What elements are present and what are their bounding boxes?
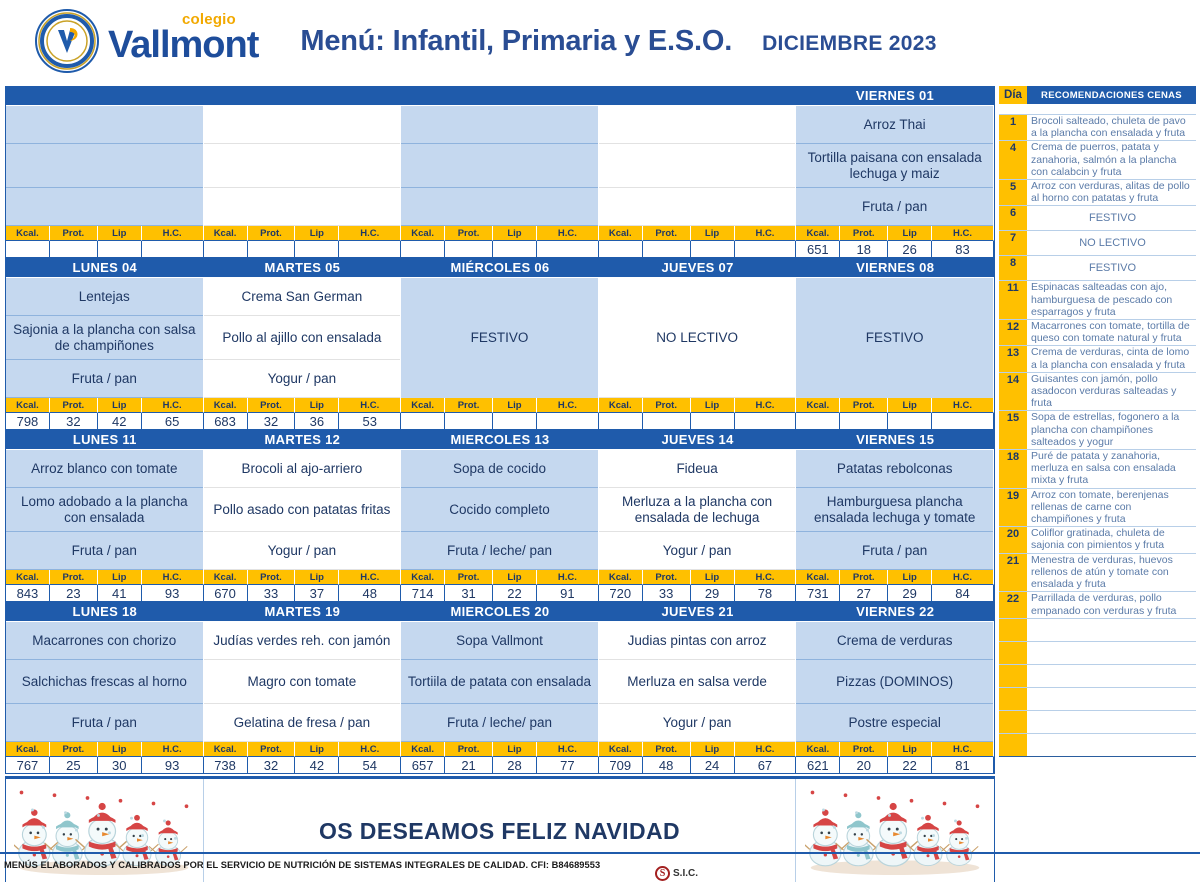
recommendation-row: 15Sopa de estrellas, fogonero a la planc…	[999, 410, 1196, 449]
nutrition-label: Prot.	[445, 398, 493, 413]
recommendation-day-badge: 1	[999, 115, 1027, 140]
nutrition-value: 767	[6, 757, 50, 774]
nutrition-label: Kcal.	[401, 398, 445, 413]
nutrition-label: H.C.	[537, 570, 599, 585]
meal-item: Fruta / leche/ pan	[401, 532, 598, 570]
nutrition-label: H.C.	[339, 226, 401, 241]
day-column: Patatas rebolconasHamburguesa plancha en…	[796, 450, 994, 570]
meal-item: Yogur / pan	[204, 532, 401, 570]
nutrition-value	[888, 413, 932, 430]
recommendation-text: Guisantes con jamón, pollo asadocon verd…	[1027, 373, 1196, 411]
day-header-label: JUEVES 14	[599, 432, 797, 447]
nutrition-label: H.C.	[735, 398, 797, 413]
nutrition-label: Prot.	[445, 742, 493, 757]
meal-item	[204, 188, 401, 226]
recommendation-row: 21Menestra de verduras, huevos rellenos …	[999, 553, 1196, 592]
meal-row: Macarrones con chorizoSalchichas frescas…	[6, 622, 994, 742]
day-header-label: VIERNES 15	[796, 432, 994, 447]
nutrition-label: H.C.	[142, 570, 204, 585]
nutrition-value: 720	[599, 585, 643, 602]
page-title: Menú: Infantil, Primaria y E.S.O.	[300, 25, 732, 58]
month-label: DICIEMBRE 2023	[762, 26, 937, 56]
sidebar-bottom-rule	[999, 756, 1196, 757]
nutrition-label: Prot.	[643, 570, 691, 585]
recommendation-day-badge	[999, 688, 1027, 710]
nutrition-label: H.C.	[339, 398, 401, 413]
recommendation-day-badge: 11	[999, 281, 1027, 319]
meal-item: Hamburguesa plancha ensalada lechuga y t…	[796, 488, 993, 532]
day-column: Arroz ThaiTortilla paisana con ensalada …	[796, 106, 994, 226]
day-column	[401, 106, 599, 226]
recommendation-text	[1027, 642, 1196, 664]
recommendation-text	[1027, 619, 1196, 641]
recommendation-row: 11Espinacas salteadas con ajo, hamburgue…	[999, 280, 1196, 319]
page-header: colegio Vallmont Menú: Infantil, Primari…	[0, 0, 1200, 82]
day-column: Crema San GermanPollo al ajillo con ensa…	[204, 278, 402, 398]
recommendation-text: Puré de patata y zanahoria, merluza en s…	[1027, 450, 1196, 488]
nutrition-value: 48	[643, 757, 691, 774]
meal-item	[599, 188, 796, 226]
meal-row: Arroz blanco con tomateLomo adobado a la…	[6, 450, 994, 570]
snowmen-illustration-right	[796, 779, 994, 882]
day-column: Arroz blanco con tomateLomo adobado a la…	[6, 450, 204, 570]
meal-item: Arroz Thai	[796, 106, 993, 144]
nutrition-label: Prot.	[248, 226, 296, 241]
nutrition-label: Lip	[98, 226, 142, 241]
recommendation-row: 4Crema de puerros, patata y zanahoria, s…	[999, 140, 1196, 179]
week-day-header-bar: LUNES 11MARTES 12MIERCOLES 13JUEVES 14VI…	[6, 430, 994, 450]
nutrition-label: Lip	[888, 570, 932, 585]
menu-grid: VIERNES 01Arroz ThaiTortilla paisana con…	[5, 86, 995, 882]
meal-item: Merluza en salsa verde	[599, 660, 796, 704]
recommendation-row: 19Arroz con tomate, berenjenas rellenas …	[999, 488, 1196, 527]
recommendation-day-badge: 21	[999, 554, 1027, 592]
week-block: VIERNES 01Arroz ThaiTortilla paisana con…	[5, 86, 995, 258]
nutrition-value	[401, 241, 445, 258]
recommendation-text	[1027, 734, 1196, 756]
nutrition-label: Kcal.	[796, 570, 840, 585]
meal-item: Magro con tomate	[204, 660, 401, 704]
day-header-label: MARTES 12	[204, 432, 402, 447]
nutrition-label: H.C.	[142, 742, 204, 757]
nutrition-label: Lip	[98, 570, 142, 585]
nutrition-value: 26	[888, 241, 932, 258]
nutrition-value: 42	[98, 413, 142, 430]
nutrition-label: Prot.	[50, 226, 98, 241]
nutrition-label: Kcal.	[6, 742, 50, 757]
nutrition-value	[142, 241, 204, 258]
nutrition-value	[643, 413, 691, 430]
nutrition-label: Kcal.	[599, 398, 643, 413]
nutrition-values-row: 7672530937383242546572128777094824676212…	[6, 757, 994, 774]
meal-item: Cocido completo	[401, 488, 598, 532]
nutrition-label: Kcal.	[599, 742, 643, 757]
recommendation-row: 22Parrillada de verduras, pollo empanado…	[999, 591, 1196, 617]
day-column: NO LECTIVO	[599, 278, 797, 398]
nutrition-label: Prot.	[248, 742, 296, 757]
nutrition-value	[735, 413, 797, 430]
recommendation-day-badge	[999, 734, 1027, 756]
week-block: LUNES 11MARTES 12MIERCOLES 13JUEVES 14VI…	[5, 430, 995, 602]
nutrition-value: 83	[932, 241, 994, 258]
nutrition-label: Prot.	[840, 226, 888, 241]
nutrition-value: 42	[295, 757, 339, 774]
nutrition-label: H.C.	[142, 398, 204, 413]
nutrition-label: Kcal.	[796, 398, 840, 413]
recommendation-text: Espinacas salteadas con ajo, hamburguesa…	[1027, 281, 1196, 319]
day-column: Sopa de cocidoCocido completoFruta / lec…	[401, 450, 599, 570]
meal-item: Salchichas frescas al horno	[6, 660, 203, 704]
nutrition-value: 31	[445, 585, 493, 602]
nutrition-label: H.C.	[142, 226, 204, 241]
day-column: Sopa VallmontTortiila de patata con ensa…	[401, 622, 599, 742]
meal-item: Tortiila de patata con ensalada	[401, 660, 598, 704]
nutrition-value: 24	[691, 757, 735, 774]
recommendation-day-badge: 20	[999, 527, 1027, 552]
meal-item: Merluza a la plancha con ensalada de lec…	[599, 488, 796, 532]
meal-item: Macarrones con chorizo	[6, 622, 203, 660]
meal-item: Lentejas	[6, 278, 203, 316]
nutrition-values-row: 651182683	[6, 241, 994, 258]
nutrition-label: Kcal.	[401, 742, 445, 757]
recommendation-row: 14Guisantes con jamón, pollo asadocon ve…	[999, 372, 1196, 411]
day-header-label: MARTES 19	[204, 604, 402, 619]
week-day-header-bar: LUNES 18MARTES 19MIERCOLES 20JUEVES 21VI…	[6, 602, 994, 622]
recommendation-day-badge: 19	[999, 489, 1027, 527]
brand-colegio-label: colegio	[182, 11, 236, 28]
sic-logo: S S.I.C.	[655, 866, 698, 881]
meal-item	[6, 106, 203, 144]
recommendation-text: Sopa de estrellas, fogonero a la plancha…	[1027, 411, 1196, 449]
recommendation-row	[999, 104, 1196, 114]
nutrition-value: 843	[6, 585, 50, 602]
nutrition-label: Kcal.	[599, 226, 643, 241]
sic-badge-icon: S	[655, 866, 670, 881]
logo-wrap: colegio Vallmont	[34, 8, 258, 74]
nutrition-header-row: Kcal.Prot.LipH.C.Kcal.Prot.LipH.C.Kcal.P…	[6, 226, 994, 241]
nutrition-label: Kcal.	[204, 226, 248, 241]
sidebar-day-header: Día	[999, 86, 1027, 104]
day-status-label: NO LECTIVO	[599, 278, 796, 398]
recommendation-day-badge	[999, 642, 1027, 664]
week-block: LUNES 04MARTES 05MIÉRCOLES 06JUEVES 07VI…	[5, 258, 995, 430]
nutrition-value: 22	[888, 757, 932, 774]
nutrition-value	[50, 241, 98, 258]
nutrition-label: H.C.	[339, 570, 401, 585]
nutrition-value: 67	[735, 757, 797, 774]
recommendation-day-badge: 14	[999, 373, 1027, 411]
meal-item: Judías verdes reh. con jamón	[204, 622, 401, 660]
meal-item: Yogur / pan	[204, 360, 401, 398]
nutrition-header-row: Kcal.Prot.LipH.C.Kcal.Prot.LipH.C.Kcal.P…	[6, 742, 994, 757]
meal-item: Pollo al ajillo con ensalada	[204, 316, 401, 360]
day-header-label: VIERNES 08	[796, 260, 994, 275]
recommendation-text: Crema de puerros, patata y zanahoria, sa…	[1027, 141, 1196, 179]
nutrition-value	[339, 241, 401, 258]
nutrition-value	[735, 241, 797, 258]
meal-item: Yogur / pan	[599, 704, 796, 742]
recommendation-day-badge: 8	[999, 256, 1027, 280]
recommendation-row	[999, 710, 1196, 733]
recommendation-day-badge: 5	[999, 180, 1027, 205]
recommendation-text: Brocoli salteado, chuleta de pavo a la p…	[1027, 115, 1196, 140]
nutrition-header-row: Kcal.Prot.LipH.C.Kcal.Prot.LipH.C.Kcal.P…	[6, 570, 994, 585]
nutrition-label: Lip	[493, 570, 537, 585]
meal-item: Fruta / pan	[6, 532, 203, 570]
nutrition-label: Lip	[691, 570, 735, 585]
nutrition-label: Lip	[295, 742, 339, 757]
nutrition-value	[401, 413, 445, 430]
nutrition-header-row: Kcal.Prot.LipH.C.Kcal.Prot.LipH.C.Kcal.P…	[6, 398, 994, 413]
day-column: Crema de verdurasPizzas (DOMINOS)Postre …	[796, 622, 994, 742]
nutrition-value: 709	[599, 757, 643, 774]
nutrition-value	[796, 413, 840, 430]
meal-item	[401, 106, 598, 144]
nutrition-value: 657	[401, 757, 445, 774]
nutrition-value: 37	[295, 585, 339, 602]
meal-item	[401, 188, 598, 226]
nutrition-label: Lip	[888, 226, 932, 241]
nutrition-value: 32	[50, 413, 98, 430]
nutrition-label: Lip	[493, 398, 537, 413]
nutrition-value	[643, 241, 691, 258]
nutrition-label: Kcal.	[599, 570, 643, 585]
nutrition-label: Kcal.	[401, 570, 445, 585]
recommendation-day-badge: 22	[999, 592, 1027, 617]
nutrition-label: Prot.	[840, 570, 888, 585]
nutrition-label: Lip	[888, 742, 932, 757]
nutrition-label: Kcal.	[204, 570, 248, 585]
recommendation-text: Coliflor gratinada, chuleta de sajonia c…	[1027, 527, 1196, 552]
nutrition-label: Lip	[888, 398, 932, 413]
recommendation-row: 18Puré de patata y zanahoria, merluza en…	[999, 449, 1196, 488]
nutrition-value	[248, 241, 296, 258]
nutrition-value: 738	[204, 757, 248, 774]
nutrition-value: 30	[98, 757, 142, 774]
recommendation-row: 1Brocoli salteado, chuleta de pavo a la …	[999, 114, 1196, 140]
nutrition-value: 41	[98, 585, 142, 602]
recommendation-text: Macarrones con tomate, tortilla de queso…	[1027, 320, 1196, 345]
day-header-label: MARTES 05	[204, 260, 402, 275]
nutrition-label: Prot.	[840, 742, 888, 757]
recommendation-day-badge	[999, 711, 1027, 733]
nutrition-value: 23	[50, 585, 98, 602]
nutrition-label: Prot.	[248, 398, 296, 413]
nutrition-label: Lip	[691, 398, 735, 413]
meal-item: Pizzas (DOMINOS)	[796, 660, 993, 704]
meal-item	[204, 106, 401, 144]
nutrition-value	[295, 241, 339, 258]
meal-item	[204, 144, 401, 188]
meal-item: Pollo asado con patatas fritas	[204, 488, 401, 532]
brand: colegio Vallmont	[108, 12, 258, 70]
day-status-label: FESTIVO	[401, 278, 598, 398]
week-block: LUNES 18MARTES 19MIERCOLES 20JUEVES 21VI…	[5, 602, 995, 774]
nutrition-value: 20	[840, 757, 888, 774]
nutrition-label: Prot.	[50, 742, 98, 757]
recommendation-text	[1027, 104, 1196, 114]
nutrition-label: H.C.	[537, 742, 599, 757]
meal-item: Sajonia a la plancha con salsa de champi…	[6, 316, 203, 360]
recommendation-row	[999, 733, 1196, 756]
day-column: LentejasSajonia a la plancha con salsa d…	[6, 278, 204, 398]
recommendation-text	[1027, 665, 1196, 687]
nutrition-label: Lip	[295, 226, 339, 241]
nutrition-label: Kcal.	[6, 226, 50, 241]
meal-item: Crema de verduras	[796, 622, 993, 660]
recommendation-row: 7NO LECTIVO	[999, 230, 1196, 255]
nutrition-label: H.C.	[735, 226, 797, 241]
recommendation-day-badge: 12	[999, 320, 1027, 345]
nutrition-value	[599, 241, 643, 258]
nutrition-label: Kcal.	[204, 398, 248, 413]
nutrition-value: 22	[493, 585, 537, 602]
meal-item: Gelatina de fresa / pan	[204, 704, 401, 742]
nutrition-label: Lip	[493, 226, 537, 241]
nutrition-label: Kcal.	[401, 226, 445, 241]
nutrition-label: H.C.	[932, 226, 994, 241]
day-column: Judias pintas con arrozMerluza en salsa …	[599, 622, 797, 742]
nutrition-label: H.C.	[735, 570, 797, 585]
nutrition-value	[599, 413, 643, 430]
nutrition-value: 53	[339, 413, 401, 430]
meal-item: Fruta / pan	[796, 188, 993, 226]
meal-item: Fruta / leche/ pan	[401, 704, 598, 742]
day-column: Judías verdes reh. con jamónMagro con to…	[204, 622, 402, 742]
nutrition-value: 33	[248, 585, 296, 602]
recommendation-row: 12Macarrones con tomate, tortilla de que…	[999, 319, 1196, 345]
day-header-label: LUNES 04	[6, 260, 204, 275]
nutrition-value: 54	[339, 757, 401, 774]
day-header-label: MIERCOLES 13	[401, 432, 599, 447]
nutrition-value: 78	[735, 585, 797, 602]
nutrition-label: Prot.	[50, 570, 98, 585]
meal-item: Sopa de cocido	[401, 450, 598, 488]
nutrition-label: Lip	[493, 742, 537, 757]
nutrition-value: 670	[204, 585, 248, 602]
meal-item: Crema San German	[204, 278, 401, 316]
nutrition-value	[932, 413, 994, 430]
dinner-recommendations-sidebar: Día RECOMENDACIONES CENAS 1Brocoli salte…	[999, 86, 1196, 757]
day-column	[6, 106, 204, 226]
nutrition-value	[6, 241, 50, 258]
footer-text: MENÚS ELABORADOS Y CALIBRADOS POR EL SER…	[4, 860, 600, 870]
nutrition-value	[98, 241, 142, 258]
day-column: FESTIVO	[796, 278, 994, 398]
recommendation-row: 8FESTIVO	[999, 255, 1196, 280]
nutrition-value	[537, 413, 599, 430]
recommendation-text: FESTIVO	[1027, 206, 1196, 230]
day-column: Brocoli al ajo-arrieroPollo asado con pa…	[204, 450, 402, 570]
meal-item: Fruta / pan	[796, 532, 993, 570]
nutrition-label: H.C.	[932, 742, 994, 757]
meal-item: Tortilla paisana con ensalada lechuga y …	[796, 144, 993, 188]
nutrition-label: Prot.	[248, 570, 296, 585]
nutrition-value: 81	[932, 757, 994, 774]
nutrition-label: Prot.	[643, 398, 691, 413]
nutrition-value: 25	[50, 757, 98, 774]
meal-item	[401, 144, 598, 188]
nutrition-value: 84	[932, 585, 994, 602]
recommendation-day-badge: 4	[999, 141, 1027, 179]
meal-item: Postre especial	[796, 704, 993, 742]
day-header-label: MIERCOLES 20	[401, 604, 599, 619]
sidebar-title-header: RECOMENDACIONES CENAS	[1027, 86, 1196, 104]
nutrition-values-row: 8432341936703337487143122917203329787312…	[6, 585, 994, 602]
day-column: Macarrones con chorizoSalchichas frescas…	[6, 622, 204, 742]
meal-item: Arroz blanco con tomate	[6, 450, 203, 488]
nutrition-value	[691, 413, 735, 430]
nutrition-value	[493, 241, 537, 258]
week-day-header-bar: VIERNES 01	[6, 86, 994, 106]
nutrition-label: H.C.	[537, 398, 599, 413]
nutrition-label: Kcal.	[796, 742, 840, 757]
recommendation-day-badge	[999, 665, 1027, 687]
nutrition-value: 93	[142, 585, 204, 602]
nutrition-value	[537, 241, 599, 258]
nutrition-label: Prot.	[445, 570, 493, 585]
meal-item: Brocoli al ajo-arriero	[204, 450, 401, 488]
nutrition-label: Lip	[98, 742, 142, 757]
recommendation-day-badge: 6	[999, 206, 1027, 230]
nutrition-value: 714	[401, 585, 445, 602]
recommendation-row	[999, 664, 1196, 687]
nutrition-label: Lip	[295, 398, 339, 413]
meal-row: Arroz ThaiTortilla paisana con ensalada …	[6, 106, 994, 226]
recommendation-day-badge: 18	[999, 450, 1027, 488]
nutrition-value: 65	[142, 413, 204, 430]
nutrition-value: 621	[796, 757, 840, 774]
nutrition-label: Lip	[295, 570, 339, 585]
recommendation-text	[1027, 688, 1196, 710]
recommendation-text: NO LECTIVO	[1027, 231, 1196, 255]
nutrition-value	[204, 241, 248, 258]
nutrition-value: 36	[295, 413, 339, 430]
footer-divider	[0, 852, 1200, 854]
nutrition-label: Kcal.	[796, 226, 840, 241]
day-status-label: FESTIVO	[796, 278, 993, 398]
nutrition-value: 33	[643, 585, 691, 602]
nutrition-value	[493, 413, 537, 430]
meal-row: LentejasSajonia a la plancha con salsa d…	[6, 278, 994, 398]
meal-item: Fideua	[599, 450, 796, 488]
recommendation-row: 20Coliflor gratinada, chuleta de sajonia…	[999, 526, 1196, 552]
nutrition-label: Kcal.	[6, 398, 50, 413]
meal-item: Lomo adobado a la plancha con ensalada	[6, 488, 203, 532]
nutrition-label: Prot.	[840, 398, 888, 413]
nutrition-value: 48	[339, 585, 401, 602]
nutrition-value: 798	[6, 413, 50, 430]
day-column: FideuaMerluza a la plancha con ensalada …	[599, 450, 797, 570]
sidebar-header: Día RECOMENDACIONES CENAS	[999, 86, 1196, 104]
recommendation-day-badge: 7	[999, 231, 1027, 255]
meal-item: Fruta / pan	[6, 704, 203, 742]
meal-item: Patatas rebolconas	[796, 450, 993, 488]
meal-item: Fruta / pan	[6, 360, 203, 398]
recommendation-day-badge	[999, 619, 1027, 641]
day-header-label: VIERNES 01	[796, 88, 994, 103]
recommendation-text	[1027, 711, 1196, 733]
meal-item: Judias pintas con arroz	[599, 622, 796, 660]
recommendation-text: Crema de verduras, cinta de lomo a la pl…	[1027, 346, 1196, 371]
recommendation-day-badge: 15	[999, 411, 1027, 449]
meal-item: Sopa Vallmont	[401, 622, 598, 660]
nutrition-value: 29	[691, 585, 735, 602]
day-column	[599, 106, 797, 226]
nutrition-label: Prot.	[445, 226, 493, 241]
meal-item	[6, 144, 203, 188]
day-header-label: JUEVES 07	[599, 260, 797, 275]
